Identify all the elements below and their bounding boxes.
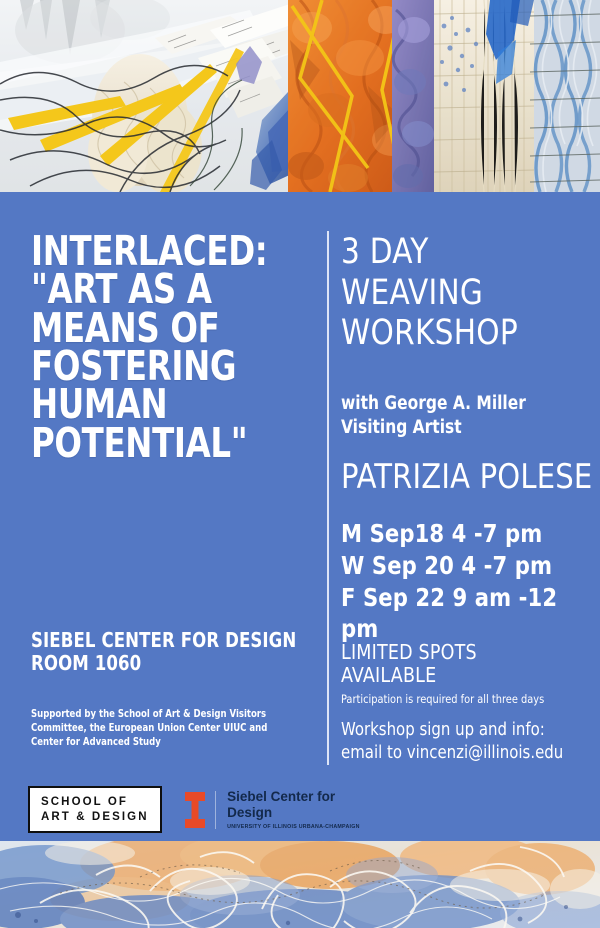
logo-row: SCHOOL OF ART & DESIGN Siebel Center for… [28,786,360,833]
poster: INTERLACED: "ART AS A MEANS OF FOSTERING… [0,0,600,928]
artist-name: PATRIZIA POLESE [341,460,588,494]
venue-location: SIEBEL CENTER FOR DESIGN ROOM 1060 [31,629,301,675]
limited-spots-notice: LIMITED SPOTS AVAILABLE [341,641,579,688]
support-credits: Supported by the School of Art & Design … [31,708,291,749]
participation-note: Participation is required for all three … [341,692,579,706]
left-column: INTERLACED: "ART AS A MEANS OF FOSTERING… [31,232,319,462]
signup-info[interactable]: Workshop sign up and info: email to vinc… [341,719,586,765]
logo-divider-rule [215,791,217,829]
sad-logo-line1: SCHOOL OF [41,795,149,810]
sad-logo-line2: ART & DESIGN [41,810,149,825]
workshop-title: 3 DAY WEAVING WORKSHOP [341,232,576,354]
watercolor-abstract-photo [0,841,600,928]
block-i-icon [184,791,206,829]
siebel-logo-name: Siebel Center for Design [227,789,360,821]
school-of-art-and-design-logo: SCHOOL OF ART & DESIGN [28,786,162,833]
schedule-list: M Sep18 4 -7 pm W Sep 20 4 -7 pm F Sep 2… [341,518,584,645]
siebel-center-logo: Siebel Center for Design UNIVERSITY OF I… [184,789,360,830]
page-title: INTERLACED: "ART AS A MEANS OF FOSTERING… [31,232,284,462]
siebel-logo-text: Siebel Center for Design UNIVERSITY OF I… [225,789,360,830]
top-photo-banner [0,0,600,192]
siebel-logo-university: UNIVERSITY OF ILLINOIS URBANA-CHAMPAIGN [227,824,360,830]
woven-textile-photo [0,0,600,192]
hosted-by: with George A. Miller Visiting Artist [341,392,574,439]
bottom-photo-banner [0,841,600,928]
column-divider [327,231,329,765]
